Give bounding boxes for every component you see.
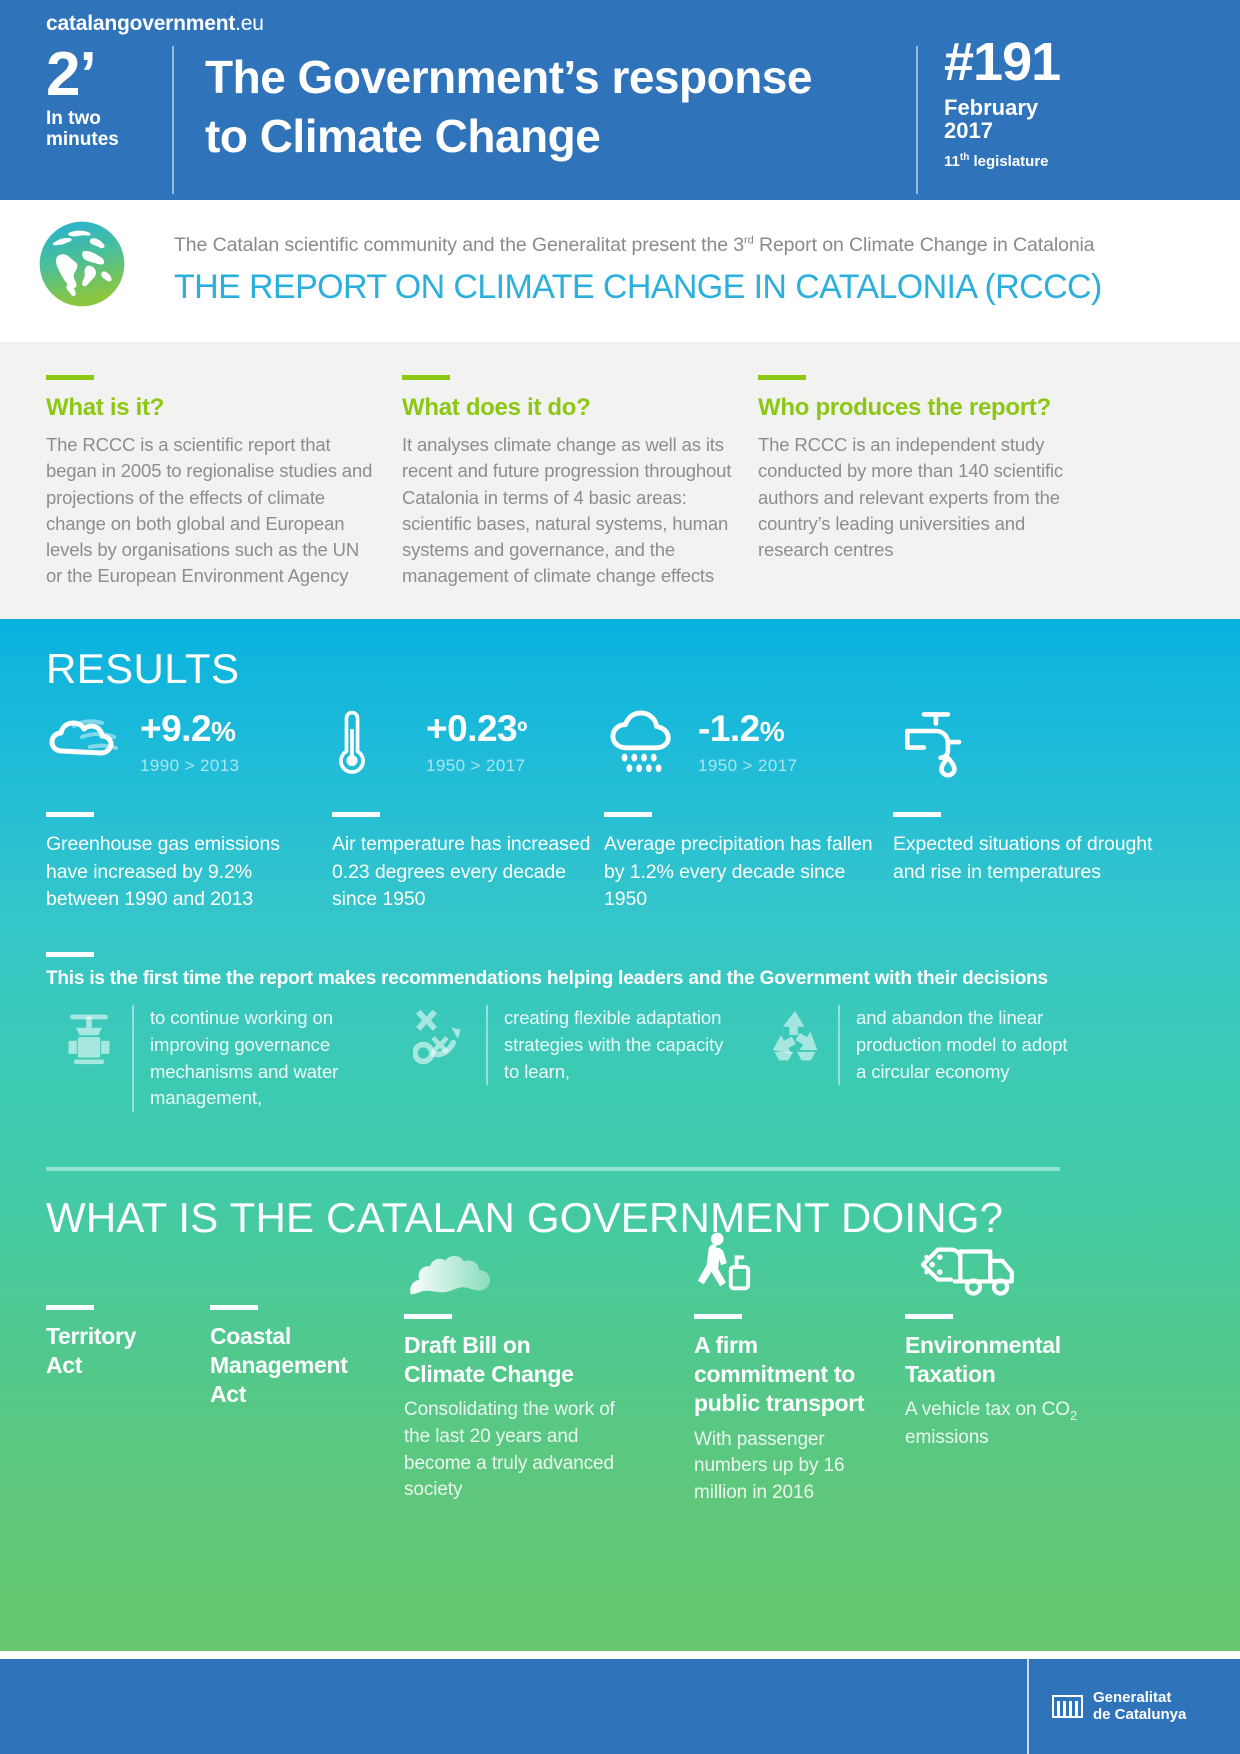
legislature-label: 11th legislature xyxy=(944,152,1214,170)
logo-line-2: de Catalunya xyxy=(1093,1706,1186,1723)
stat-text: Air temperature has increased 0.23 degre… xyxy=(332,831,597,914)
smog-cloud-icon xyxy=(46,711,138,775)
report-lead-post: Report on Climate Change in Catalonia xyxy=(754,234,1095,256)
site-url: catalangovernment.eu xyxy=(46,12,264,36)
stat-text: Expected situations of drought and rise … xyxy=(893,831,1183,886)
stat-drought: Expected situations of drought and rise … xyxy=(893,700,1183,886)
action-environmental-taxation: Environmental Taxation A vehicle tax on … xyxy=(905,1230,1105,1452)
accent-rule xyxy=(905,1314,953,1319)
stat-text: Average precipitation has fallen by 1.2%… xyxy=(604,831,889,914)
stat-unit: % xyxy=(211,716,235,747)
stat-header: -1.2% 1950 > 2017 xyxy=(604,700,889,786)
header-divider-right xyxy=(916,46,918,194)
stat-precipitation: -1.2% 1950 > 2017 Average precipitation … xyxy=(604,700,889,914)
smoke-emission-icon xyxy=(404,1230,619,1302)
stat-number: +0.23 xyxy=(426,708,517,749)
intro-title: What does it do? xyxy=(402,394,742,422)
header-divider-left xyxy=(172,46,174,194)
infographic-page: catalangovernment.eu 2’ In two minutes T… xyxy=(0,0,1240,1754)
accent-rule xyxy=(694,1314,742,1319)
accent-rule xyxy=(210,1305,258,1310)
stat-range: 1990 > 2013 xyxy=(140,756,239,776)
report-lead-ordinal: rd xyxy=(744,235,754,247)
stat-header: +9.2% 1990 > 2013 xyxy=(46,700,326,786)
action-territory-act: Territory Act xyxy=(46,1305,196,1380)
recommendation-text: to continue working on improving governa… xyxy=(132,1005,386,1112)
stat-air-temperature: +0.23º 1950 > 2017 Air temperature has i… xyxy=(332,700,597,914)
page-title: The Government’s response to Climate Cha… xyxy=(205,48,885,166)
section-gap xyxy=(0,1651,1240,1659)
action-title: Coastal Management Act xyxy=(210,1322,390,1410)
site-url-bold: catalangovernment xyxy=(46,12,235,35)
accent-rule xyxy=(893,812,941,817)
rain-cloud-icon xyxy=(604,709,696,777)
generalitat-bars-icon xyxy=(1052,1695,1083,1718)
recommendation-text: creating flexible adaptation strategies … xyxy=(486,1005,730,1085)
action-text-post: emissions xyxy=(905,1427,989,1448)
recycle-icon xyxy=(752,1005,838,1085)
report-lead: The Catalan scientific community and the… xyxy=(174,234,1095,257)
stat-values xyxy=(985,739,987,748)
thermometer-icon xyxy=(332,707,424,779)
stat-greenhouse-gas: +9.2% 1990 > 2013 Greenhouse gas emissio… xyxy=(46,700,326,914)
report-lead-pre: The Catalan scientific community and the… xyxy=(174,234,744,256)
section-divider-rule xyxy=(46,1167,1060,1171)
results-title: RESULTS xyxy=(46,645,239,693)
action-title: A firm commitment to public transport xyxy=(694,1331,874,1419)
recommendation-adaptation: creating flexible adaptation strategies … xyxy=(400,1005,730,1085)
issue-number: #191 xyxy=(944,38,1214,88)
recommendation-circular-economy: and abandon the linear production model … xyxy=(752,1005,1082,1085)
accent-rule xyxy=(404,1314,452,1319)
stat-number: +9.2 xyxy=(140,708,211,749)
recommendation-text: and abandon the linear production model … xyxy=(838,1005,1082,1085)
footer-divider xyxy=(1027,1659,1029,1754)
truck-tax-tag-icon xyxy=(905,1230,1105,1302)
strategy-arrow-icon xyxy=(400,1005,486,1085)
generalitat-logo-text: Generalitatde Catalunya xyxy=(1093,1690,1186,1724)
water-valve-icon xyxy=(46,1005,132,1112)
accent-rule xyxy=(758,375,806,380)
legislature-number: 11 xyxy=(944,153,960,170)
accent-rule xyxy=(46,812,94,817)
intro-body: The RCCC is an independent study conduct… xyxy=(758,432,1088,563)
site-url-tld: .eu xyxy=(235,12,264,35)
action-title: Draft Bill on Climate Change xyxy=(404,1331,619,1389)
action-text-subscript: 2 xyxy=(1070,1408,1077,1423)
action-title: Territory Act xyxy=(46,1322,196,1380)
generalitat-logo: Generalitatde Catalunya xyxy=(1052,1690,1186,1724)
intro-title: Who produces the report? xyxy=(758,394,1088,422)
report-headline: THE REPORT ON CLIMATE CHANGE IN CATALONI… xyxy=(174,268,1102,307)
action-draft-bill-climate-change: Draft Bill on Climate Change Consolidati… xyxy=(404,1230,619,1504)
issue-year: 2017 xyxy=(944,118,993,143)
stat-value: -1.2% xyxy=(698,710,797,747)
stat-number: -1.2 xyxy=(698,708,760,749)
action-coastal-management-act: Coastal Management Act xyxy=(210,1305,390,1410)
intro-body: It analyses climate change as well as it… xyxy=(402,432,742,590)
legislature-ordinal: th xyxy=(960,152,969,163)
logo-line-1: Generalitat xyxy=(1093,1689,1171,1706)
accent-rule xyxy=(332,812,380,817)
reading-time-value: 2’ xyxy=(46,46,166,103)
accent-rule xyxy=(604,812,652,817)
accent-rule xyxy=(402,375,450,380)
stat-range: 1950 > 2017 xyxy=(698,756,797,776)
issue-date: February2017 xyxy=(944,96,1214,144)
intro-column-who-produces: Who produces the report? The RCCC is an … xyxy=(758,375,1088,563)
action-text: With passenger numbers up by 16 million … xyxy=(694,1427,874,1507)
issue-month: February xyxy=(944,95,1038,120)
intro-title: What is it? xyxy=(46,394,376,422)
action-title: Environmental Taxation xyxy=(905,1331,1105,1389)
reading-time-block: 2’ In two minutes xyxy=(46,46,166,150)
water-tap-drop-icon xyxy=(893,707,985,779)
intro-column-what-does-it-do: What does it do? It analyses climate cha… xyxy=(402,375,742,590)
issue-block: #191 February2017 11th legislature xyxy=(944,38,1214,170)
action-public-transport: A firm commitment to public transport Wi… xyxy=(694,1230,874,1506)
recommendation-governance: to continue working on improving governa… xyxy=(46,1005,386,1112)
stat-unit: º xyxy=(517,716,527,747)
stat-values: +9.2% 1990 > 2013 xyxy=(138,710,239,776)
stat-value: +0.23º xyxy=(426,710,527,747)
stat-range: 1950 > 2017 xyxy=(426,756,527,776)
action-text: Consolidating the work of the last 20 ye… xyxy=(404,1397,619,1503)
stat-unit: % xyxy=(760,716,784,747)
stat-text: Greenhouse gas emissions have increased … xyxy=(46,831,326,914)
intro-body: The RCCC is a scientific report that beg… xyxy=(46,432,376,590)
stat-header: +0.23º 1950 > 2017 xyxy=(332,700,597,786)
action-text-pre: A vehicle tax on CO xyxy=(905,1399,1070,1420)
stat-value: +9.2% xyxy=(140,710,239,747)
accent-rule xyxy=(46,952,94,957)
intro-column-what-is-it: What is it? The RCCC is a scientific rep… xyxy=(46,375,376,590)
stat-values: -1.2% 1950 > 2017 xyxy=(696,710,797,776)
legislature-word: legislature xyxy=(973,153,1048,170)
accent-rule xyxy=(46,1305,94,1310)
traveller-luggage-icon xyxy=(694,1230,874,1302)
stat-header xyxy=(893,700,1183,786)
action-text: A vehicle tax on CO2 emissions xyxy=(905,1397,1105,1452)
reading-time-label: In two minutes xyxy=(46,109,166,150)
page-header: catalangovernment.eu 2’ In two minutes T… xyxy=(0,0,1240,200)
globe-earth-icon xyxy=(36,218,128,310)
accent-rule xyxy=(46,375,94,380)
stat-values: +0.23º 1950 > 2017 xyxy=(424,710,527,776)
recommendations-heading: This is the first time the report makes … xyxy=(46,968,1126,990)
